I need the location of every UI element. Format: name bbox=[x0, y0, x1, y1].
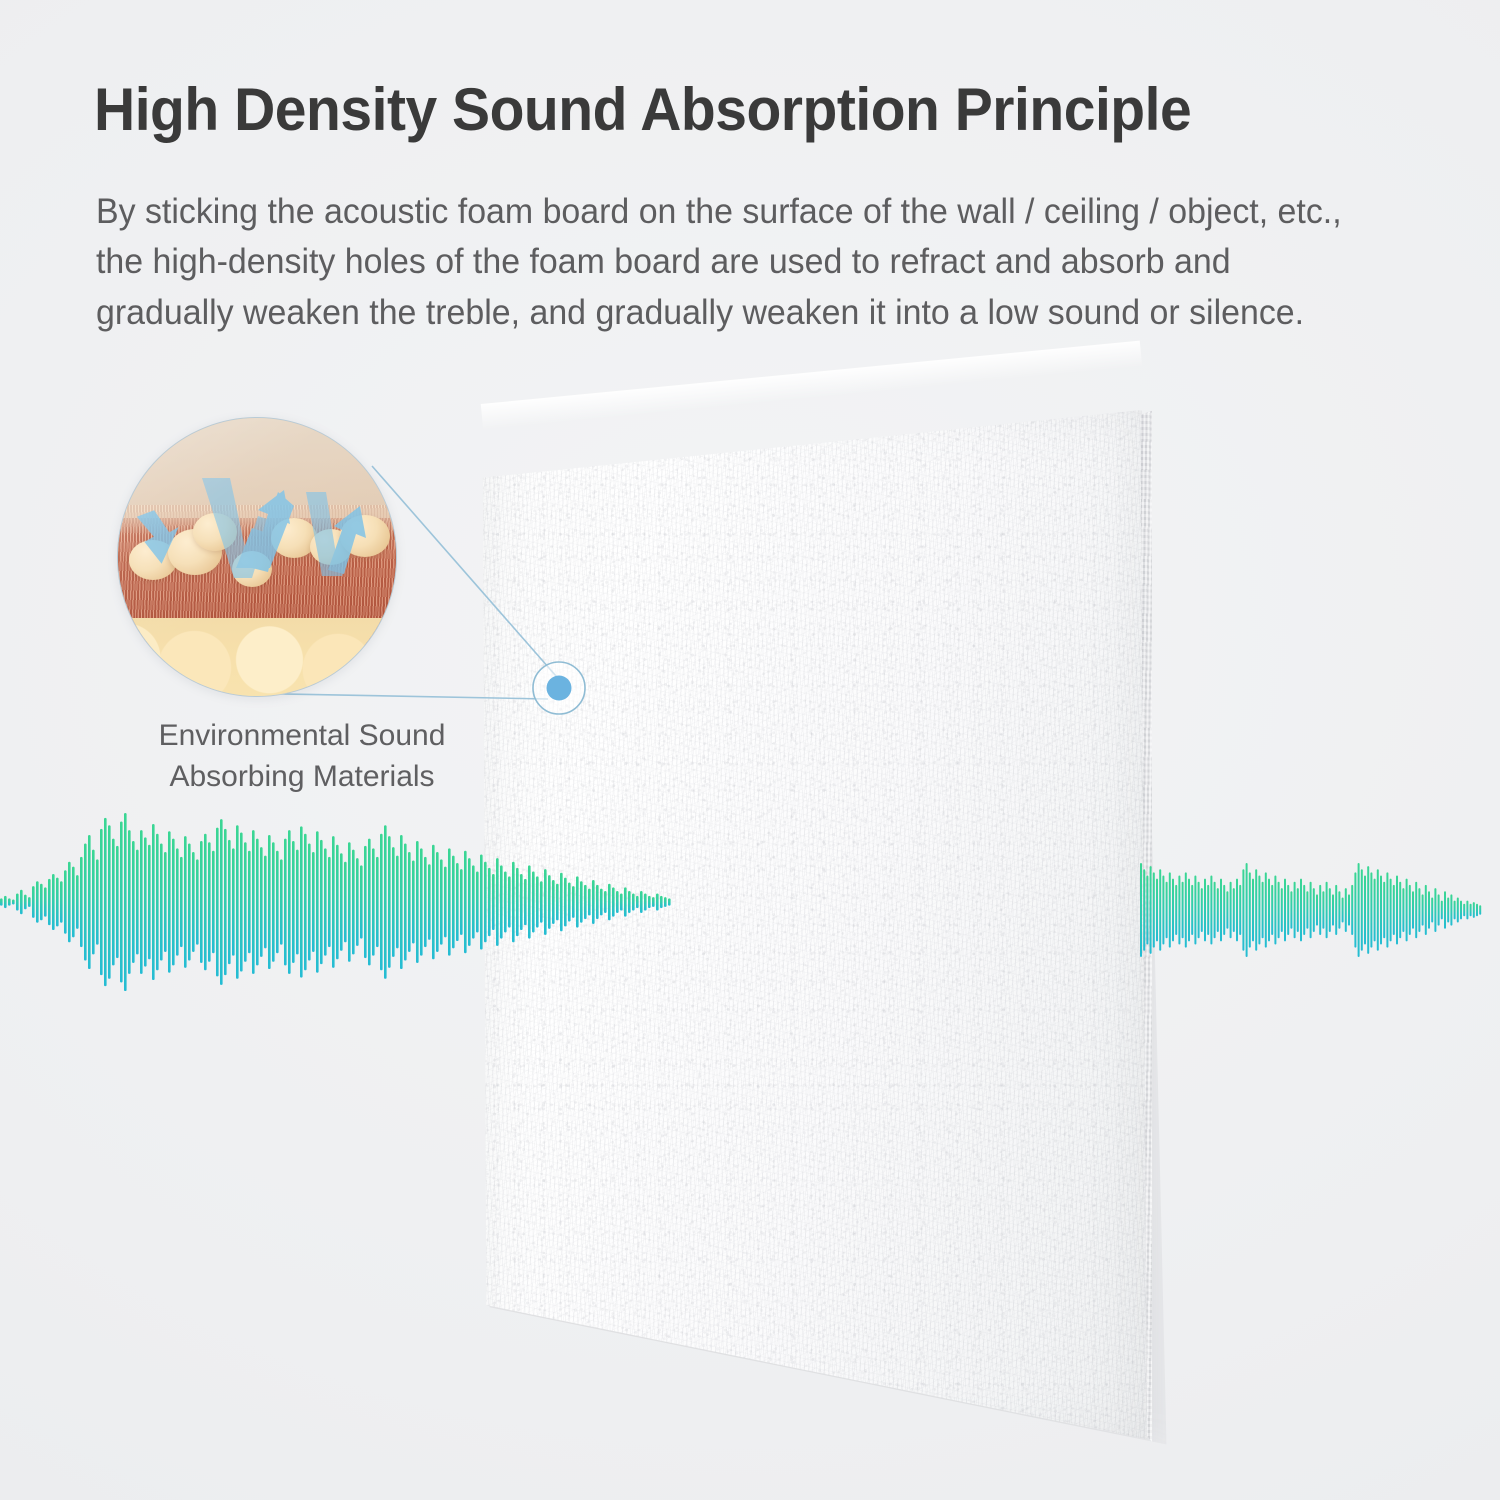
magnifier-sound-arrows bbox=[118, 418, 396, 696]
arrow-reflect-icon bbox=[136, 507, 183, 566]
magnifier-inset bbox=[117, 417, 397, 697]
product-infographic: High Density Sound Absorption Principle … bbox=[0, 0, 1500, 1500]
callout-caption: Environmental Sound Absorbing Materials bbox=[92, 716, 512, 798]
panel-top-highlight bbox=[481, 341, 1142, 430]
panel-front-face bbox=[472, 398, 1152, 1453]
callout-caption-line1: Environmental Sound bbox=[92, 716, 512, 757]
callout-caption-line2: Absorbing Materials bbox=[92, 757, 512, 798]
